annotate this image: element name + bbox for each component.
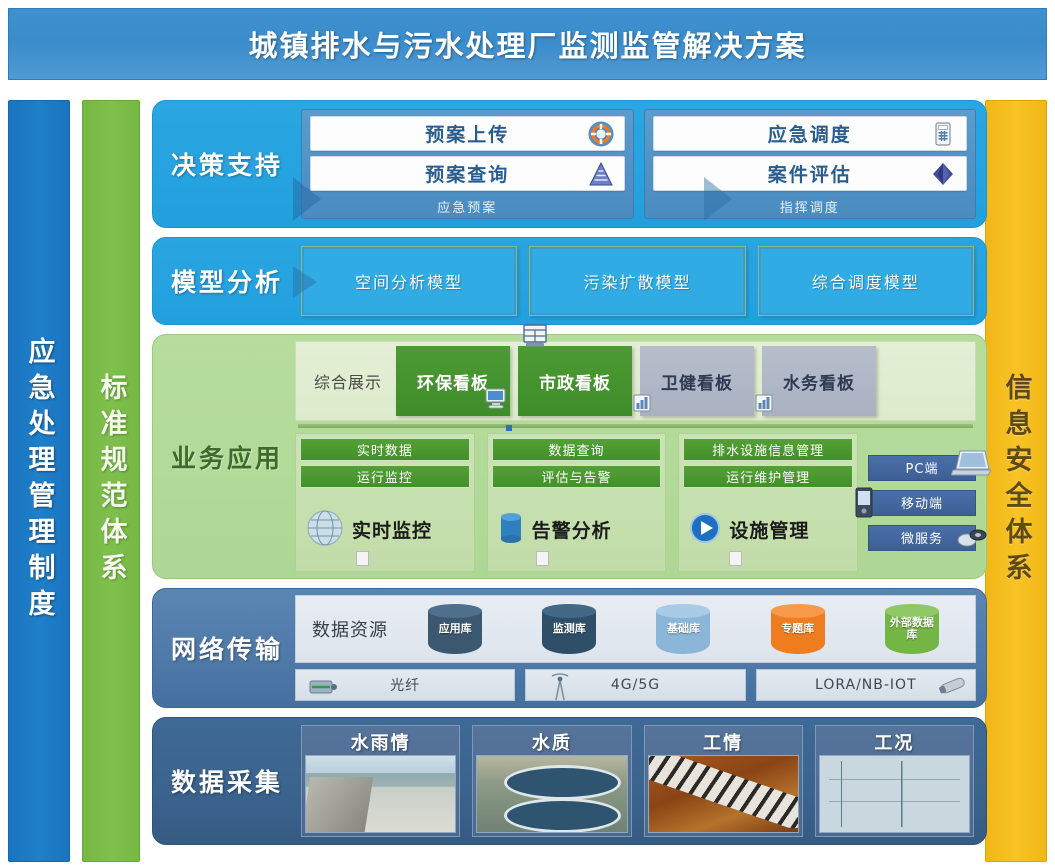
layer-label-data: 数据采集 — [153, 718, 301, 844]
lifebuoy-icon — [588, 121, 614, 147]
data-card-rainfall[interactable]: 水雨情 — [301, 725, 460, 837]
data-card-rainfall-photo — [305, 755, 456, 833]
model-box-spatial[interactable]: 空间分析模型 — [301, 246, 517, 316]
data-card-operating-condition-title: 工况 — [819, 729, 970, 755]
module-foot-realtime-monitoring[interactable]: 实时监控 — [300, 492, 470, 567]
model-box-dispatch[interactable]: 综合调度模型 — [758, 246, 974, 316]
data-card-water-quality[interactable]: 水质 — [472, 725, 631, 837]
card-plan-upload[interactable]: 预案上传 — [310, 116, 625, 151]
module-col-monitoring: 实时数据 运行监控 实时监控 — [295, 433, 475, 572]
decision-arrow2-icon — [704, 177, 732, 221]
database-monitoring[interactable]: 监测库 — [542, 604, 596, 654]
board-shuiwu-label: 水务看板 — [783, 369, 855, 394]
database-monitoring-label: 监测库 — [542, 623, 596, 635]
decision-group-emergency-plan-caption: 应急预案 — [310, 197, 625, 216]
model-arrow-icon — [293, 266, 317, 298]
board-shizheng-label: 市政看板 — [539, 369, 611, 394]
pillar-information-security: 信息安全体系 — [985, 100, 1047, 862]
page-title-banner: 城镇排水与污水处理厂监测监管解决方案 — [8, 8, 1047, 80]
module-col-facility: 排水设施信息管理 运行维护管理 设施管理 — [678, 433, 858, 572]
data-card-operating-condition[interactable]: 工况 — [815, 725, 974, 837]
module-foot-facility-management[interactable]: 设施管理 — [683, 492, 853, 567]
card-plan-upload-label: 预案上传 — [425, 120, 509, 147]
transmission-4g5g-label: 4G/5G — [611, 677, 660, 693]
database-basic-label: 基础库 — [656, 623, 710, 635]
dashboard-connector-dot — [506, 425, 512, 431]
transmission-4g5g[interactable]: 4G/5G — [525, 669, 745, 701]
sensor-icon — [935, 673, 971, 703]
card-plan-query[interactable]: 预案查询 — [310, 156, 625, 191]
card-case-evaluation[interactable]: 案件评估 — [653, 156, 968, 191]
dashboard-row: 综合展示 环保看板 市政看板 — [295, 341, 976, 421]
module-pill-evaluation-alarm[interactable]: 评估与告警 — [492, 465, 662, 488]
board-huanbao[interactable]: 环保看板 — [396, 346, 510, 416]
data-card-operating-condition-photo — [819, 755, 970, 833]
monitor-icon — [484, 387, 508, 414]
database-thematic[interactable]: 专题库 — [771, 604, 825, 654]
terminal-mobile[interactable]: 移动端 — [868, 490, 976, 516]
chart-icon — [632, 393, 652, 418]
database-external-label: 外部数据库 — [885, 617, 939, 641]
pillar-standards-system: 标准规范体系 — [82, 100, 140, 862]
decision-group-command-dispatch-caption: 指挥调度 — [653, 197, 968, 216]
board-shizheng[interactable]: 市政看板 — [518, 346, 632, 416]
data-card-engineering-title: 工情 — [648, 729, 799, 755]
terminal-microservice-label: 微服务 — [901, 528, 943, 547]
page-icon — [356, 551, 369, 566]
transmission-lora[interactable]: LORA/NB-IOT — [756, 669, 976, 701]
window-icon — [522, 324, 548, 353]
pyramid-icon — [588, 161, 614, 187]
layer-business-application: 业务应用 综合展示 环保看板 — [152, 334, 987, 579]
globe-icon — [304, 507, 346, 553]
module-pill-data-query[interactable]: 数据查询 — [492, 438, 662, 461]
terminal-pc[interactable]: PC端 — [868, 455, 976, 481]
card-case-evaluation-label: 案件评估 — [768, 160, 852, 187]
transmission-fiber[interactable]: 光纤 — [295, 669, 515, 701]
board-weijian-label: 卫健看板 — [661, 369, 733, 394]
layer-data-collection: 数据采集 水雨情 水质 工情 工况 — [152, 717, 987, 845]
module-col-query: 数据查询 评估与告警 告警分析 — [487, 433, 667, 572]
card-plan-query-label: 预案查询 — [425, 160, 509, 187]
layer-network-transmission: 网络传输 数据资源 应用库 监测库 — [152, 588, 987, 708]
laptop-icon — [951, 448, 991, 482]
module-pill-drainage-facility-info[interactable]: 排水设施信息管理 — [683, 438, 853, 461]
layer-stack: 决策支持 预案上传 — [152, 100, 987, 862]
transmission-fiber-label: 光纤 — [390, 675, 420, 695]
module-pill-maintenance-management[interactable]: 运行维护管理 — [683, 465, 853, 488]
layer-label-business: 业务应用 — [153, 335, 301, 578]
module-foot-realtime-monitoring-label: 实时监控 — [352, 516, 432, 543]
data-resource-row: 数据资源 应用库 监测库 — [295, 595, 976, 663]
model-box-pollution[interactable]: 污染扩散模型 — [529, 246, 745, 316]
layer-label-model: 模型分析 — [153, 238, 301, 324]
fiber-icon — [306, 676, 340, 704]
database-basic[interactable]: 基础库 — [656, 604, 710, 654]
page-icon — [536, 551, 549, 566]
module-foot-facility-management-label: 设施管理 — [729, 516, 809, 543]
antenna-icon — [548, 672, 572, 706]
module-pill-realtime-data[interactable]: 实时数据 — [300, 438, 470, 461]
dashboard-underline — [298, 424, 973, 428]
page-title: 城镇排水与污水处理厂监测监管解决方案 — [248, 23, 806, 65]
database-application-label: 应用库 — [428, 623, 482, 635]
database-icon — [496, 509, 526, 551]
board-weijian[interactable]: 卫健看板 — [640, 346, 754, 416]
data-card-rainfall-title: 水雨情 — [305, 729, 456, 755]
layer-label-network: 网络传输 — [153, 589, 301, 707]
phone-icon — [853, 487, 875, 523]
layer-decision-support: 决策支持 预案上传 — [152, 100, 987, 228]
transmission-lora-label: LORA/NB-IOT — [815, 677, 917, 693]
calculator-icon — [930, 121, 956, 147]
layer-label-decision: 决策支持 — [153, 101, 301, 227]
diamond-icon — [930, 161, 956, 187]
page-icon — [729, 551, 742, 566]
database-external[interactable]: 外部数据库 — [885, 604, 939, 654]
dashboard-row-label: 综合展示 — [300, 346, 396, 416]
decision-group-command-dispatch: 应急调度 — [644, 109, 977, 219]
terminal-mobile-label: 移动端 — [901, 493, 943, 512]
data-resource-label: 数据资源 — [302, 616, 398, 642]
data-card-water-quality-photo — [476, 755, 627, 833]
card-emergency-dispatch-label: 应急调度 — [768, 120, 852, 147]
terminal-list: PC端 移动端 — [868, 433, 976, 572]
solution-architecture-diagram: 城镇排水与污水处理厂监测监管解决方案 应急处理管理制度 标准规范体系 信息安全体… — [0, 0, 1055, 868]
board-shuiwu[interactable]: 水务看板 — [762, 346, 876, 416]
module-foot-alarm-analysis[interactable]: 告警分析 — [492, 492, 662, 567]
decision-group-emergency-plan: 预案上传 预案查询 — [301, 109, 634, 219]
play-icon — [687, 510, 723, 550]
card-emergency-dispatch[interactable]: 应急调度 — [653, 116, 968, 151]
pillar-emergency-management: 应急处理管理制度 — [8, 100, 70, 862]
terminal-microservice[interactable]: 微服务 — [868, 525, 976, 551]
chart-icon — [754, 393, 774, 418]
gears-icon — [955, 524, 989, 556]
data-card-water-quality-title: 水质 — [476, 729, 627, 755]
data-card-engineering-photo — [648, 755, 799, 833]
module-pill-operation-monitoring[interactable]: 运行监控 — [300, 465, 470, 488]
database-application[interactable]: 应用库 — [428, 604, 482, 654]
board-huanbao-label: 环保看板 — [417, 369, 489, 394]
database-thematic-label: 专题库 — [771, 623, 825, 635]
layer-model-analysis: 模型分析 空间分析模型 污染扩散模型 综合调度模型 — [152, 237, 987, 325]
decision-arrow-icon — [293, 177, 321, 221]
data-card-engineering[interactable]: 工情 — [644, 725, 803, 837]
terminal-pc-label: PC端 — [906, 458, 939, 477]
module-foot-alarm-analysis-label: 告警分析 — [532, 516, 612, 543]
